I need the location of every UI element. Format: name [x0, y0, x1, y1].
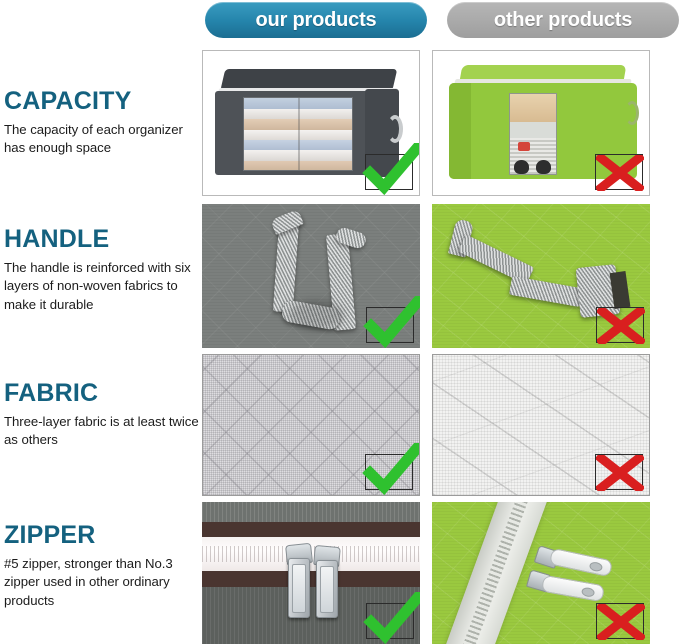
- verdict-badge: [365, 154, 413, 190]
- other-image-fabric: [432, 354, 650, 496]
- red-cross-icon: [597, 604, 645, 640]
- comparison-infographic: our products other products CAPACITY The…: [0, 0, 679, 644]
- our-image-capacity: [202, 50, 420, 196]
- comparison-header: our products other products: [0, 0, 679, 42]
- red-cross-icon: [596, 455, 644, 491]
- row-text-zipper: ZIPPER #5 zipper, stronger than No.3 zip…: [4, 522, 200, 610]
- row-text-fabric: FABRIC Three-layer fabric is at least tw…: [4, 380, 200, 450]
- verdict-badge: [365, 454, 413, 490]
- our-image-handle: [202, 204, 420, 348]
- verdict-badge: [595, 154, 643, 190]
- comparison-row-handle: HANDLE The handle is reinforced with six…: [0, 204, 679, 350]
- row-description: The capacity of each organizer has enoug…: [4, 121, 200, 157]
- red-cross-icon: [597, 308, 645, 344]
- row-title: HANDLE: [4, 226, 200, 252]
- green-check-icon: [362, 143, 420, 196]
- row-title: FABRIC: [4, 380, 200, 406]
- other-image-handle: [432, 204, 650, 348]
- row-text-capacity: CAPACITY The capacity of each organizer …: [4, 88, 200, 158]
- row-title: CAPACITY: [4, 88, 200, 114]
- row-title: ZIPPER: [4, 522, 200, 548]
- other-products-label: other products: [494, 9, 632, 32]
- comparison-row-capacity: CAPACITY The capacity of each organizer …: [0, 50, 679, 200]
- row-text-handle: HANDLE The handle is reinforced with six…: [4, 226, 200, 314]
- verdict-badge: [596, 307, 644, 343]
- our-image-zipper: [202, 502, 420, 644]
- green-check-icon: [363, 592, 420, 644]
- row-description: #5 zipper, stronger than No.3 zipper use…: [4, 555, 200, 610]
- comparison-row-fabric: FABRIC Three-layer fabric is at least tw…: [0, 354, 679, 498]
- other-image-capacity: [432, 50, 650, 196]
- our-products-label: our products: [256, 9, 377, 32]
- green-check-icon: [362, 443, 420, 496]
- verdict-badge: [595, 454, 643, 490]
- row-description: The handle is reinforced with six layers…: [4, 259, 200, 314]
- our-products-badge: our products: [205, 2, 427, 38]
- verdict-badge: [366, 307, 414, 343]
- other-image-zipper: [432, 502, 650, 644]
- comparison-row-zipper: ZIPPER #5 zipper, stronger than No.3 zip…: [0, 502, 679, 644]
- row-description: Three-layer fabric is at least twice as …: [4, 413, 200, 449]
- other-products-badge: other products: [447, 2, 679, 38]
- red-cross-icon: [596, 155, 644, 191]
- verdict-badge: [596, 603, 644, 639]
- our-image-fabric: [202, 354, 420, 496]
- verdict-badge: [366, 603, 414, 639]
- green-check-icon: [363, 296, 420, 348]
